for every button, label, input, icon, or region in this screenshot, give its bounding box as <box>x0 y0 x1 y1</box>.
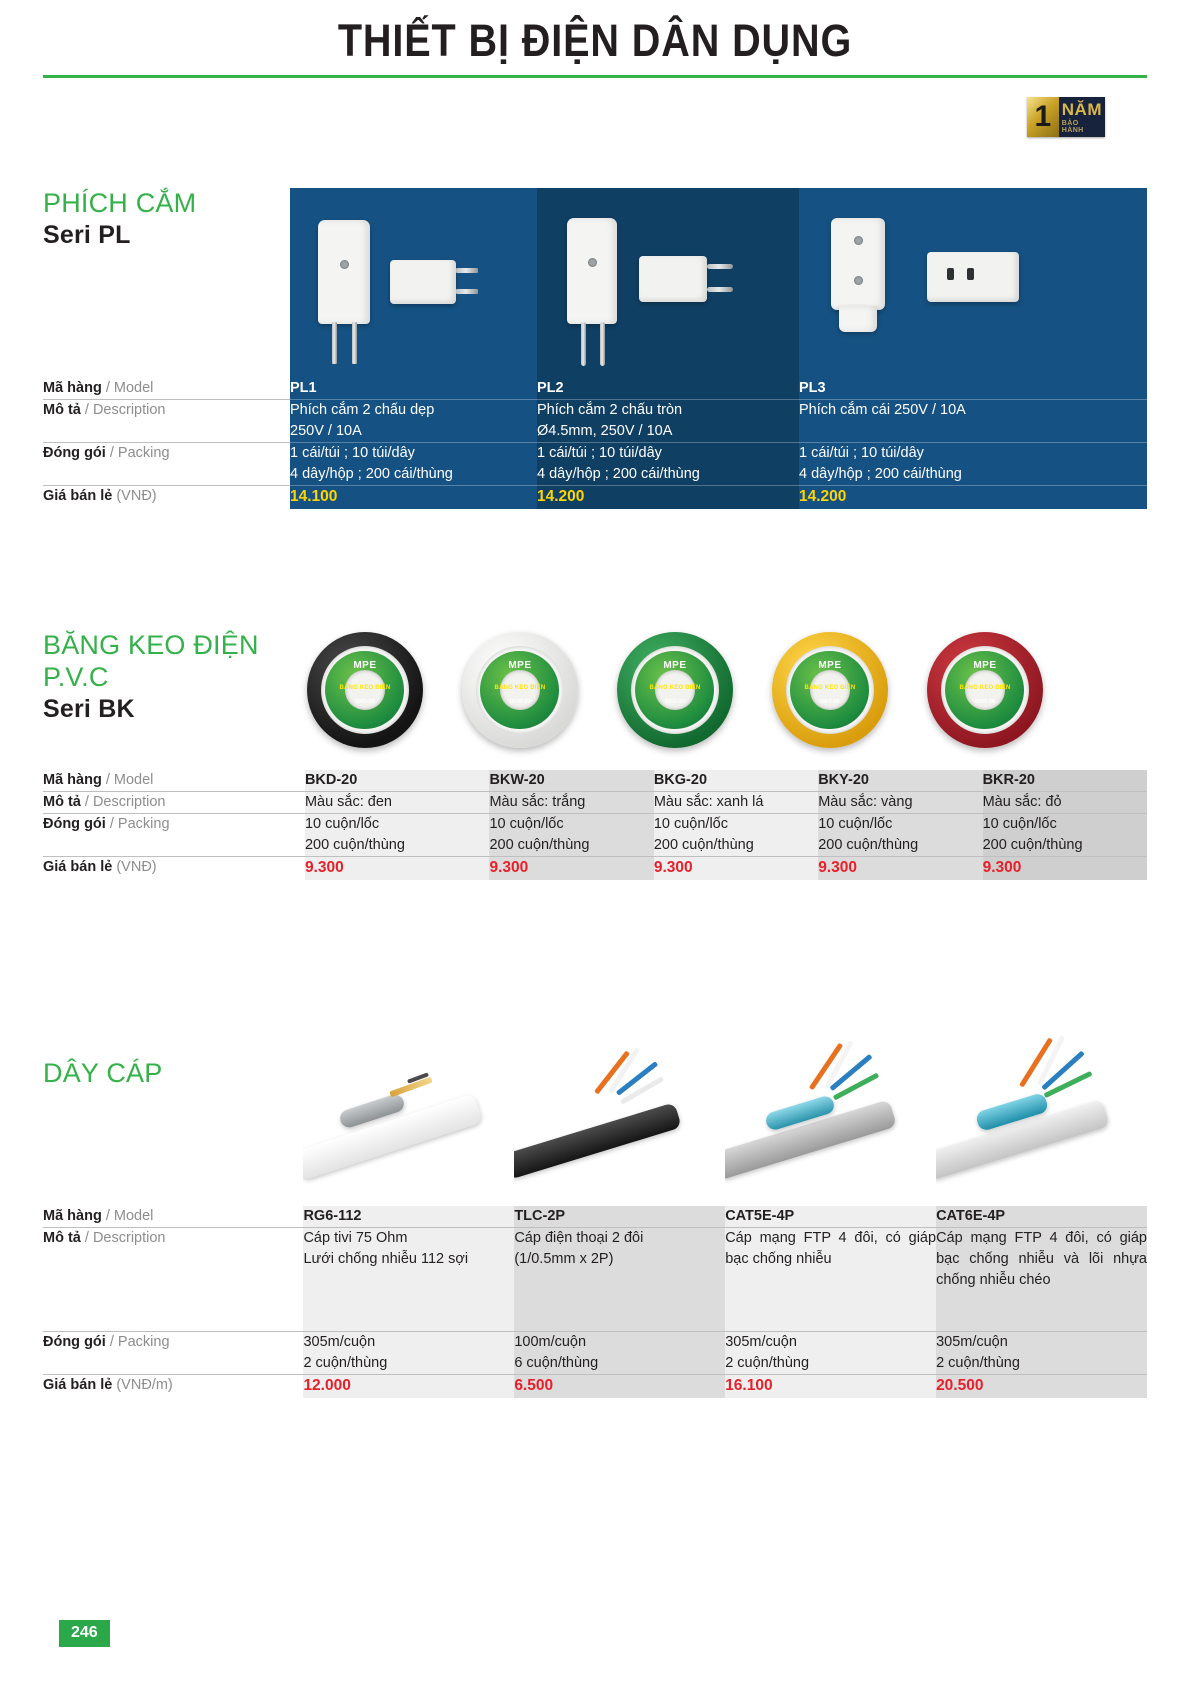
row-label-model: Mã hàng / Model <box>43 378 290 400</box>
product-photo-pl3 <box>799 188 1147 378</box>
product-photo-bkr20: MPE BĂNG KEO ĐIỆN BKR-20 <box>927 632 1043 748</box>
cell-packing-rg6112: 305m/cuộn 2 cuộn/thùng <box>303 1332 514 1375</box>
product-photo-pl2 <box>537 188 799 378</box>
warranty-text: NĂM BẢO HÀNH <box>1059 97 1105 137</box>
section-tape-title-line1: BĂNG KEO ĐIỆN <box>43 630 283 662</box>
cell-model-tlc2p: TLC-2P <box>514 1206 725 1228</box>
table-row-packing: Đóng gói / Packing 10 cuộn/lốc 200 cuộn/… <box>43 814 1147 857</box>
cell-model-bky20: BKY-20 <box>818 770 982 792</box>
cell-model-bkr20: BKR-20 <box>983 770 1147 792</box>
table-row-model: Mã hàng / Model RG6-112 TLC-2P CAT5E-4P … <box>43 1206 1147 1228</box>
cell-packing-pl2: 1 cái/túi ; 10 túi/dây 4 dây/hộp ; 200 c… <box>537 443 799 486</box>
page-title: THIẾT BỊ ĐIỆN DÂN DỤNG <box>71 18 1118 63</box>
cell-price-pl1: 14.100 <box>290 486 537 509</box>
cell-model-pl2: PL2 <box>537 378 799 400</box>
row-label-packing: Đóng gói / Packing <box>43 1332 303 1375</box>
cell-price-bkr20: 9.300 <box>983 857 1147 880</box>
cell-model-bkd20: BKD-20 <box>305 770 490 792</box>
cell-price-bkg20: 9.300 <box>654 857 818 880</box>
cell-price-bkd20: 9.300 <box>305 857 490 880</box>
section-plugs-title: PHÍCH CẮM <box>43 188 283 220</box>
row-label-packing: Đóng gói / Packing <box>43 814 305 857</box>
product-photo-cat6e4p <box>936 1010 1147 1206</box>
cell-model-bkg20: BKG-20 <box>654 770 818 792</box>
section-tape: BĂNG KEO ĐIỆN P.V.C Seri BK MPE BĂNG KEO… <box>43 620 1147 880</box>
section-tape-series: Seri BK <box>43 694 283 725</box>
row-label-price: Giá bán lẻ (VNĐ/m) <box>43 1375 303 1398</box>
table-row-model: Mã hàng / Model PL1 PL2 PL3 <box>43 378 1147 400</box>
table-row-packing: Đóng gói / Packing 305m/cuộn 2 cuộn/thùn… <box>43 1332 1147 1375</box>
page-number-badge: 246 <box>59 1620 110 1647</box>
section-plugs: PHÍCH CẮM Seri PL <box>43 188 1147 509</box>
cell-model-bkw20: BKW-20 <box>489 770 653 792</box>
title-divider <box>43 75 1147 78</box>
cell-packing-tlc2p: 100m/cuộn 6 cuộn/thùng <box>514 1332 725 1375</box>
cell-price-pl3: 14.200 <box>799 486 1147 509</box>
table-row-description: Mô tả / Description Phích cắm 2 chấu dẹp… <box>43 400 1147 443</box>
cell-price-bkw20: 9.300 <box>489 857 653 880</box>
section-cables: DÂY CÁP <box>43 1010 1147 1398</box>
cell-desc-bkd20: Màu sắc: đen <box>305 792 490 814</box>
cell-desc-bkw20: Màu sắc: trắng <box>489 792 653 814</box>
cell-model-pl3: PL3 <box>799 378 1147 400</box>
product-photo-tlc2p <box>514 1010 725 1206</box>
product-photo-cat5e4p <box>725 1010 936 1206</box>
section-plugs-series: Seri PL <box>43 220 283 251</box>
cell-packing-bkr20: 10 cuộn/lốc 200 cuộn/thùng <box>983 814 1147 857</box>
cell-price-bky20: 9.300 <box>818 857 982 880</box>
table-row-price: Giá bán lẻ (VNĐ) 14.100 14.200 14.200 <box>43 486 1147 509</box>
warranty-number: 1 <box>1027 97 1059 137</box>
product-photo-bkd20: MPE BĂNG KEO ĐIỆN BKD-20 <box>307 632 423 748</box>
cell-desc-cat5e4p: Cáp mạng FTP 4 đôi, có giáp bạc chống nh… <box>725 1228 936 1332</box>
cell-model-pl1: PL1 <box>290 378 537 400</box>
cell-packing-bkd20: 10 cuộn/lốc 200 cuộn/thùng <box>305 814 490 857</box>
warranty-badge: 1 NĂM BẢO HÀNH <box>1027 97 1105 137</box>
table-row-price: Giá bán lẻ (VNĐ) 9.300 9.300 9.300 9.300… <box>43 857 1147 880</box>
row-label-price: Giá bán lẻ (VNĐ) <box>43 857 305 880</box>
photo-row-spacer <box>43 1010 303 1206</box>
product-photo-bkw20: MPE BĂNG KEO ĐIỆN BKW-20 <box>462 632 578 748</box>
row-label-packing: Đóng gói / Packing <box>43 443 290 486</box>
cell-packing-bkw20: 10 cuộn/lốc 200 cuộn/thùng <box>489 814 653 857</box>
cell-desc-bkg20: Màu sắc: xanh lá <box>654 792 818 814</box>
product-photo-rg6112 <box>303 1010 514 1206</box>
cell-desc-cat6e4p: Cáp mạng FTP 4 đôi, có giáp bạc chống nh… <box>936 1228 1147 1332</box>
row-label-description: Mô tả / Description <box>43 1228 303 1332</box>
cell-packing-bkg20: 10 cuộn/lốc 200 cuộn/thùng <box>654 814 818 857</box>
cell-desc-tlc2p: Cáp điện thoại 2 đôi (1/0.5mm x 2P) <box>514 1228 725 1332</box>
table-row-model: Mã hàng / Model BKD-20 BKW-20 BKG-20 BKY… <box>43 770 1147 792</box>
cell-price-cat6e4p: 20.500 <box>936 1375 1147 1398</box>
row-label-model-en: Model <box>114 380 154 396</box>
product-photo-bkg20: MPE BĂNG KEO ĐIỆN BKG-20 <box>617 632 733 748</box>
cell-desc-pl1: Phích cắm 2 chấu dẹp 250V / 10A <box>290 400 537 443</box>
row-label-model: Mã hàng / Model <box>43 1206 303 1228</box>
photo-row <box>43 1010 1147 1206</box>
cell-model-cat5e4p: CAT5E-4P <box>725 1206 936 1228</box>
product-photo-pl1 <box>290 188 537 378</box>
table-row-price: Giá bán lẻ (VNĐ/m) 12.000 6.500 16.100 2… <box>43 1375 1147 1398</box>
section-tape-heading: BĂNG KEO ĐIỆN P.V.C Seri BK <box>43 630 283 724</box>
cell-price-cat5e4p: 16.100 <box>725 1375 936 1398</box>
section-tape-title-line2: P.V.C <box>43 662 283 694</box>
cell-desc-bky20: Màu sắc: vàng <box>818 792 982 814</box>
section-plugs-heading: PHÍCH CẮM Seri PL <box>43 188 283 250</box>
cell-packing-pl1: 1 cái/túi ; 10 túi/dây 4 dây/hộp ; 200 c… <box>290 443 537 486</box>
row-label-model-vi: Mã hàng <box>43 380 102 396</box>
page-header: THIẾT BỊ ĐIỆN DÂN DỤNG <box>0 0 1190 78</box>
cell-packing-pl3: 1 cái/túi ; 10 túi/dây 4 dây/hộp ; 200 c… <box>799 443 1147 486</box>
cell-price-tlc2p: 6.500 <box>514 1375 725 1398</box>
product-photo-bky20: MPE BĂNG KEO ĐIỆN BKY-20 <box>772 632 888 748</box>
section-cables-heading: DÂY CÁP <box>43 1058 283 1090</box>
cell-model-rg6112: RG6-112 <box>303 1206 514 1228</box>
table-row-description: Mô tả / Description Cáp tivi 75 Ohm Lưới… <box>43 1228 1147 1332</box>
cell-desc-pl2: Phích cắm 2 chấu tròn Ø4.5mm, 250V / 10A <box>537 400 799 443</box>
cell-desc-pl3: Phích cắm cái 250V / 10A <box>799 400 1147 443</box>
row-label-price: Giá bán lẻ (VNĐ) <box>43 486 290 509</box>
cell-model-cat6e4p: CAT6E-4P <box>936 1206 1147 1228</box>
table-row-packing: Đóng gói / Packing 1 cái/túi ; 10 túi/dâ… <box>43 443 1147 486</box>
cell-desc-bkr20: Màu sắc: đỏ <box>983 792 1147 814</box>
cell-packing-bky20: 10 cuộn/lốc 200 cuộn/thùng <box>818 814 982 857</box>
warranty-unit: NĂM <box>1062 101 1102 118</box>
cell-packing-cat5e4p: 305m/cuộn 2 cuộn/thùng <box>725 1332 936 1375</box>
row-label-model: Mã hàng / Model <box>43 770 305 792</box>
warranty-sublabel: BẢO HÀNH <box>1062 120 1102 134</box>
cell-price-rg6112: 12.000 <box>303 1375 514 1398</box>
row-label-description: Mô tả / Description <box>43 400 290 443</box>
cell-packing-cat6e4p: 305m/cuộn 2 cuộn/thùng <box>936 1332 1147 1375</box>
row-label-description: Mô tả / Description <box>43 792 305 814</box>
cell-desc-rg6112: Cáp tivi 75 Ohm Lưới chống nhiễu 112 sợi <box>303 1228 514 1332</box>
table-row-description: Mô tả / Description Màu sắc: đen Màu sắc… <box>43 792 1147 814</box>
tape-photo-strip: MPE BĂNG KEO ĐIỆN BKD-20 MPE BĂNG KEO ĐI… <box>305 620 1147 770</box>
section-cables-title: DÂY CÁP <box>43 1058 283 1090</box>
cell-price-pl2: 14.200 <box>537 486 799 509</box>
